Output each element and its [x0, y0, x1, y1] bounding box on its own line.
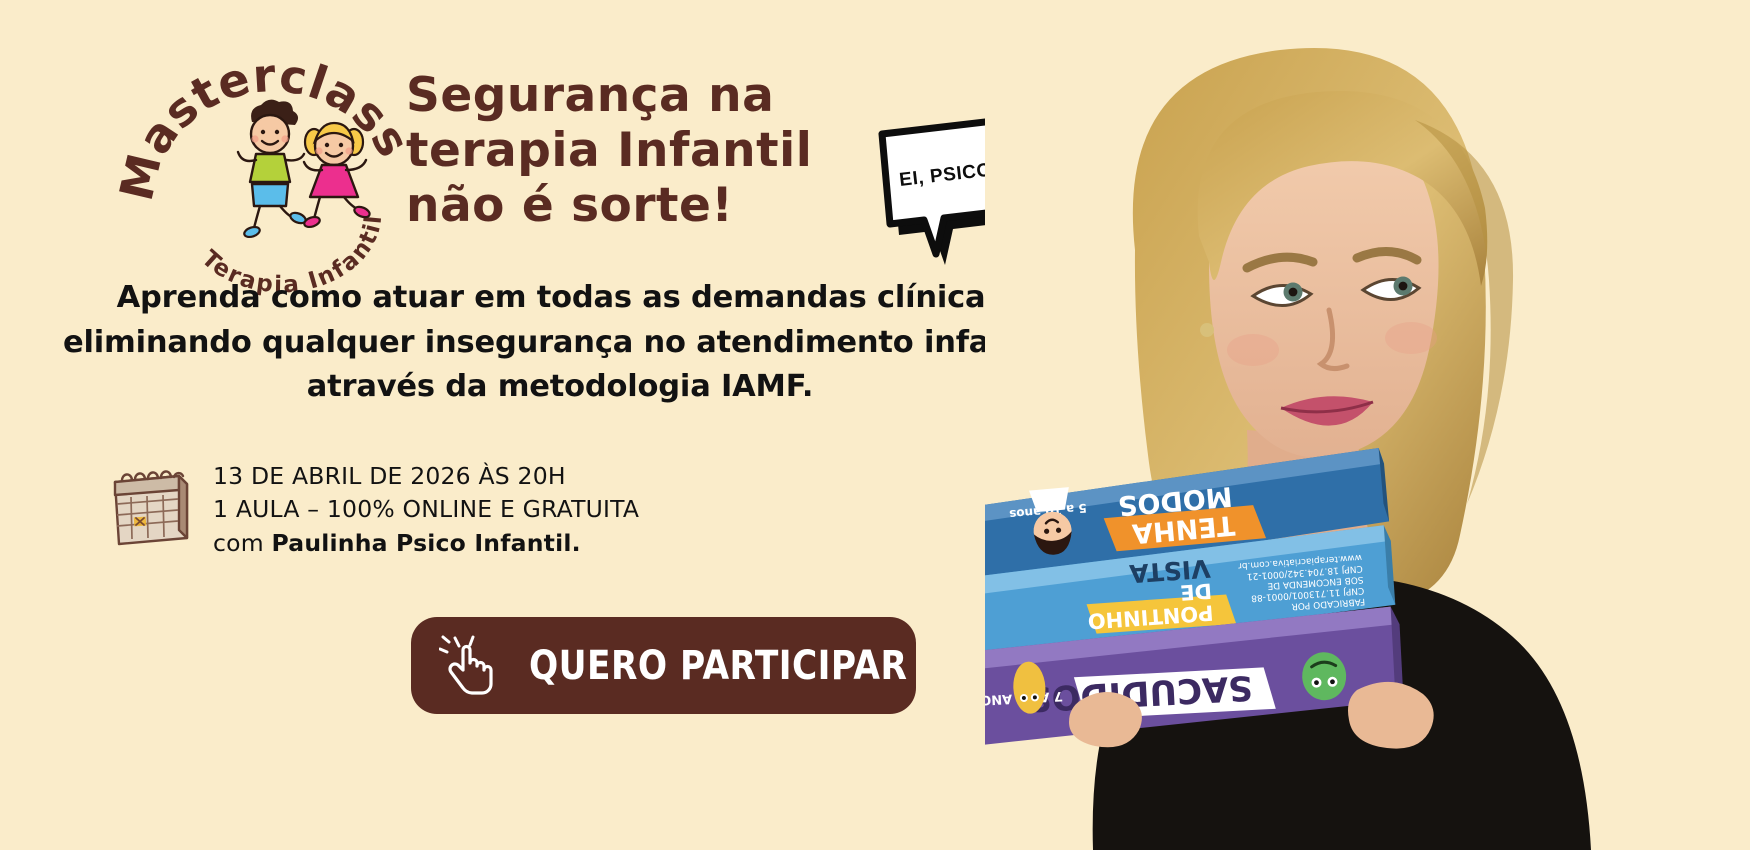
- cta-button[interactable]: QUERO PARTICIPAR: [411, 617, 916, 714]
- box2-title-line3: VISTA: [1128, 554, 1212, 589]
- earring: [1200, 323, 1214, 337]
- calendar-icon: [105, 460, 197, 552]
- event-host: com Paulinha Psico Infantil.: [213, 527, 639, 560]
- event-host-name: Paulinha Psico Infantil.: [271, 529, 580, 557]
- landing-banner: Masterclass Terapia Infantil: [0, 0, 1750, 850]
- lead-paragraph: Aprenda como atuar em todas as demandas …: [60, 276, 1060, 410]
- event-host-prefix: com: [213, 529, 271, 557]
- page-title: Segurança na terapia Infantil não é sort…: [406, 68, 826, 233]
- presenter-photo: TENHA MODOS 5 a 10 anos: [985, 0, 1750, 850]
- event-format: 1 AULA – 100% ONLINE E GRATUITA: [213, 493, 639, 526]
- event-date: 13 DE ABRIL DE 2026 ÀS 20H: [213, 460, 639, 493]
- event-details: 13 DE ABRIL DE 2026 ÀS 20H 1 AULA – 100%…: [105, 452, 745, 560]
- logo-girl-illustration: [303, 123, 371, 229]
- cta-label: QUERO PARTICIPAR: [529, 643, 907, 689]
- logo-boy-illustration: [238, 100, 307, 239]
- hand-click-icon: [439, 634, 503, 698]
- brand-logo[interactable]: Masterclass Terapia Infantil: [148, 42, 398, 267]
